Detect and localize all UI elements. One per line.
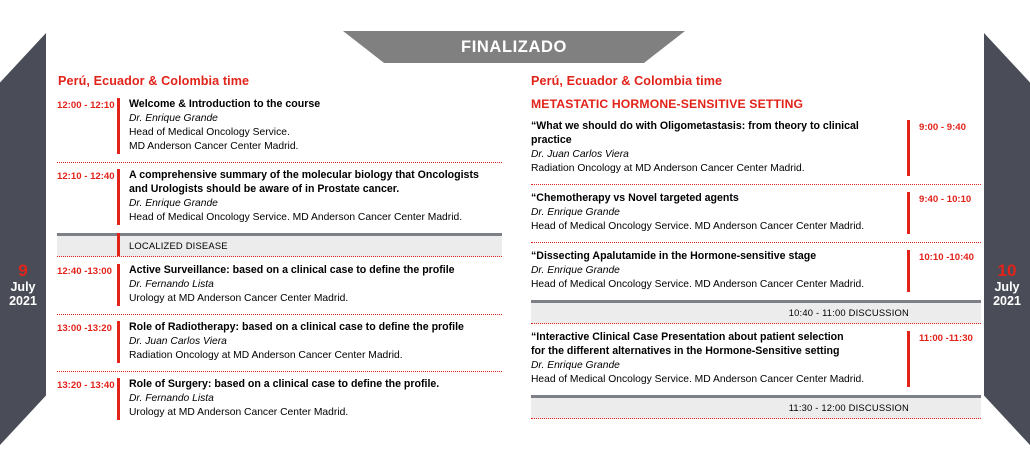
session-title: Welcome & Introduction to the course: [129, 98, 502, 112]
agenda-column-day1: Perú, Ecuador & Colombia time 12:00 - 12…: [57, 74, 502, 428]
discussion-band-label: 10:40 - 11:00 DISCUSSION: [789, 307, 909, 318]
agenda-column-day2: Perú, Ecuador & Colombia time METASTATIC…: [531, 74, 981, 419]
session-title: “Dissecting Apalutamide in the Hormone-s…: [531, 250, 897, 264]
session-body: “What we should do with Oligometastasis:…: [531, 120, 907, 176]
session-body: Role of Surgery: based on a clinical cas…: [129, 378, 502, 420]
session-affiliation: Radiation Oncology at MD Anderson Cancer…: [129, 349, 502, 363]
row-accent-bar: [117, 98, 120, 154]
session-title: Active Surveillance: based on a clinical…: [129, 264, 502, 278]
row-accent-bar: [117, 378, 120, 420]
session-speaker: Dr. Fernando Lista: [129, 392, 502, 406]
session-speaker: Dr. Enrique Grande: [531, 264, 897, 278]
date-month-left: July: [0, 280, 46, 294]
row-accent-bar: [907, 331, 910, 387]
status-banner: FINALIZADO: [343, 31, 685, 63]
date-year-right: 2021: [984, 294, 1030, 308]
session-affiliation: Radiation Oncology at MD Anderson Cancer…: [531, 162, 897, 176]
session-time: 9:40 - 10:10: [919, 192, 981, 205]
session-time: 12:40 -13:00: [57, 264, 117, 277]
discussion-band: 11:30 - 12:00 DISCUSSION: [531, 395, 981, 419]
session-speaker: Dr. Enrique Grande: [531, 359, 897, 373]
session-speaker: Dr. Enrique Grande: [129, 112, 502, 126]
agenda-row[interactable]: “Chemotherapy vs Novel targeted agents D…: [531, 184, 981, 242]
row-accent-bar: [907, 192, 910, 234]
session-affiliation: Head of Medical Oncology Service. MD And…: [531, 220, 897, 234]
session-body: A comprehensive summary of the molecular…: [129, 169, 502, 225]
row-accent-bar: [117, 233, 120, 256]
date-badge-left: 9 July 2021: [0, 261, 46, 308]
session-speaker: Dr. Fernando Lista: [129, 278, 502, 292]
section-band-localized-disease: LOCALIZED DISEASE: [57, 233, 502, 257]
session-time: 10:10 -10:40: [919, 250, 981, 263]
session-affiliation: MD Anderson Cancer Center Madrid.: [129, 140, 502, 154]
agenda-row[interactable]: 12:40 -13:00 Active Surveillance: based …: [57, 257, 502, 314]
session-body: “Dissecting Apalutamide in the Hormone-s…: [531, 250, 907, 292]
session-time: 11:00 -11:30: [919, 331, 981, 344]
session-time: 12:10 - 12:40: [57, 169, 117, 182]
session-title: for the different alternatives in the Ho…: [531, 345, 897, 359]
session-affiliation: Urology at MD Anderson Cancer Center Mad…: [129, 406, 502, 420]
session-title: “What we should do with Oligometastasis:…: [531, 120, 897, 148]
session-affiliation: Head of Medical Oncology Service. MD And…: [531, 278, 897, 292]
date-day-right: 10: [984, 261, 1030, 280]
session-title: “Chemotherapy vs Novel targeted agents: [531, 192, 897, 206]
row-accent-bar: [907, 250, 910, 292]
agenda-row[interactable]: “Dissecting Apalutamide in the Hormone-s…: [531, 242, 981, 300]
agenda-row[interactable]: 13:20 - 13:40 Role of Surgery: based on …: [57, 371, 502, 428]
session-body: Welcome & Introduction to the course Dr.…: [129, 98, 502, 154]
session-title: Role of Surgery: based on a clinical cas…: [129, 378, 502, 392]
row-accent-bar: [117, 264, 120, 306]
agenda-row[interactable]: 12:10 - 12:40 A comprehensive summary of…: [57, 162, 502, 233]
row-accent-bar: [117, 169, 120, 225]
session-title: “Interactive Clinical Case Presentation …: [531, 331, 897, 345]
session-title: Role of Radiotherapy: based on a clinica…: [129, 321, 502, 335]
row-accent-bar: [117, 321, 120, 363]
session-time: 9:00 - 9:40: [919, 120, 981, 133]
session-body: “Chemotherapy vs Novel targeted agents D…: [531, 192, 907, 234]
timezone-title-left: Perú, Ecuador & Colombia time: [58, 74, 502, 88]
session-body: Active Surveillance: based on a clinical…: [129, 264, 502, 306]
session-speaker: Dr. Enrique Grande: [129, 197, 502, 211]
session-time: 13:00 -13:20: [57, 321, 117, 334]
row-accent-bar: [907, 120, 910, 176]
session-affiliation: Head of Medical Oncology Service.: [129, 126, 502, 140]
agenda-row[interactable]: “What we should do with Oligometastasis:…: [531, 119, 981, 184]
date-year-left: 2021: [0, 294, 46, 308]
session-affiliation: Urology at MD Anderson Cancer Center Mad…: [129, 292, 502, 306]
session-title: and Urologists should be aware of in Pro…: [129, 183, 502, 197]
session-body: “Interactive Clinical Case Presentation …: [531, 331, 907, 387]
session-title: A comprehensive summary of the molecular…: [129, 169, 502, 183]
status-banner-label: FINALIZADO: [461, 38, 567, 57]
agenda-row[interactable]: “Interactive Clinical Case Presentation …: [531, 324, 981, 395]
day-panel-right: 10 July 2021: [984, 33, 1030, 445]
session-body: Role of Radiotherapy: based on a clinica…: [129, 321, 502, 363]
session-affiliation: Head of Medical Oncology Service. MD And…: [531, 373, 897, 387]
discussion-band: 10:40 - 11:00 DISCUSSION: [531, 300, 981, 324]
discussion-band-label: 11:30 - 12:00 DISCUSSION: [789, 402, 909, 413]
agenda-row[interactable]: 12:00 - 12:10 Welcome & Introduction to …: [57, 97, 502, 162]
session-speaker: Dr. Juan Carlos Viera: [531, 148, 897, 162]
date-badge-right: 10 July 2021: [984, 261, 1030, 308]
date-day-left: 9: [0, 261, 46, 280]
session-time: 13:20 - 13:40: [57, 378, 117, 391]
date-month-right: July: [984, 280, 1030, 294]
session-affiliation: Head of Medical Oncology Service. MD And…: [129, 211, 502, 225]
session-speaker: Dr. Enrique Grande: [531, 206, 897, 220]
agenda-row[interactable]: 13:00 -13:20 Role of Radiotherapy: based…: [57, 314, 502, 371]
day-panel-left: 9 July 2021: [0, 33, 46, 445]
section-heading-metastatic: METASTATIC HORMONE-SENSITIVE SETTING: [531, 97, 981, 111]
session-time: 12:00 - 12:10: [57, 98, 117, 111]
agenda-page: 9 July 2021 10 July 2021 FINALIZADO Perú…: [0, 0, 1030, 450]
session-speaker: Dr. Juan Carlos Viera: [129, 335, 502, 349]
timezone-title-right: Perú, Ecuador & Colombia time: [531, 74, 981, 88]
section-band-label: LOCALIZED DISEASE: [129, 240, 228, 251]
